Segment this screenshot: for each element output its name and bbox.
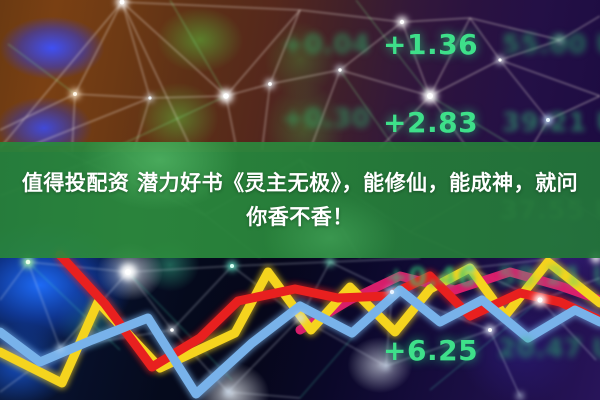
ticker-mid-center: +2.83 [383,106,478,139]
ticker-lower-right: 58.21 U [498,262,600,292]
ticker-mid-right: 39.21 U [502,108,600,138]
headline-band: 值得投配资 潜力好书《灵主无极》，能修仙，能成神，就问你香不香！ [0,142,600,258]
ticker-top-mid: +1.36 [383,28,478,61]
ticker-bottom-right: 20.47 U [498,334,600,364]
ticker-top-right: 55.00 U [502,30,600,60]
ticker-bottom-center: +6.25 [383,334,478,367]
ticker-top-left: +0.04 [282,30,370,60]
ticker-lower-mid: +0.46 [385,262,477,293]
stock-promo-banner: +0.04 +1.36 55.00 U +0.30 +2.83 39.21 U … [0,0,600,400]
headline-text: 值得投配资 潜力好书《灵主无极》，能修仙，能成神，就问你香不香！ [14,166,586,234]
ticker-mid-left: +0.30 [282,104,370,134]
